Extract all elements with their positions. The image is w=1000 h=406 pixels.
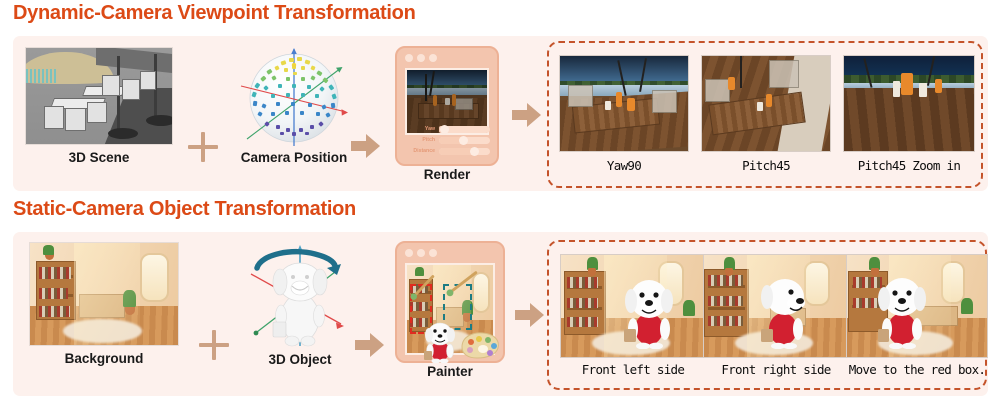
dot-minimize-icon[interactable] (417, 54, 425, 62)
slider-track-yaw[interactable] (439, 126, 490, 133)
output-group-static: Front left side (547, 240, 987, 390)
window-traffic-dots[interactable] (405, 54, 437, 62)
3d-scene-thumbnail (25, 47, 173, 145)
output-pitch45 (701, 55, 831, 152)
dot-close-icon[interactable] (405, 249, 413, 257)
render-window[interactable]: Yaw Pitch Distance (395, 46, 499, 166)
section-title-dynamic: Dynamic-Camera Viewpoint Transformation (13, 2, 415, 25)
output-yaw90 (559, 55, 689, 152)
caption-background: Background (29, 351, 179, 366)
figure-root: Dynamic-Camera Viewpoint Transformation (0, 0, 1000, 406)
caption-output-move-red-box: Move to the red box. (849, 362, 986, 377)
output-thumbnail (559, 55, 689, 152)
slider-track-distance[interactable] (439, 148, 490, 155)
caption-output-pitch45: Pitch45 (742, 158, 790, 173)
slider-label-pitch: Pitch (404, 136, 435, 144)
slider-track-pitch[interactable] (439, 137, 490, 144)
section-dynamic-camera: Dynamic-Camera Viewpoint Transformation (0, 0, 1000, 200)
caption-painter: Painter (391, 364, 509, 379)
output-thumbnail (703, 254, 848, 358)
operator-arrow-dynamic-output (510, 98, 544, 132)
operator-arrow-dynamic (349, 129, 383, 163)
painter-window[interactable] (395, 241, 505, 363)
window-traffic-dots[interactable] (405, 249, 437, 257)
output-move-to-red-box (846, 254, 988, 358)
3d-dog-object-axes (237, 242, 363, 350)
paintbrush-left-icon (410, 277, 432, 300)
caption-camera-position: Camera Position (231, 150, 357, 165)
input-3d-object: 3D Object (237, 242, 363, 372)
output-group-dynamic: Yaw90 Pitch45 (547, 41, 983, 188)
input-background: Background (29, 242, 179, 372)
output-thumbnail (560, 254, 705, 358)
caption-output-yaw90: Yaw90 (607, 158, 641, 173)
output-thumbnail (843, 55, 975, 152)
caption-output-front-left: Front left side (582, 362, 684, 377)
operator-arrow-static-output (513, 298, 547, 332)
caption-output-front-right: Front right side (721, 362, 830, 377)
slider-label-yaw: Yaw (404, 125, 435, 133)
operator-plus-static (199, 330, 229, 360)
dot-maximize-icon[interactable] (429, 54, 437, 62)
camera-position-sphere (231, 46, 357, 150)
dot-close-icon[interactable] (405, 54, 413, 62)
caption-render: Render (391, 167, 503, 182)
camera-position-svg (231, 46, 357, 150)
slider-label-distance: Distance (404, 147, 435, 155)
slider-distance[interactable]: Distance (404, 147, 490, 155)
render-sliders[interactable]: Yaw Pitch Distance (404, 125, 490, 158)
output-thumbnail (846, 254, 988, 358)
slider-pitch[interactable]: Pitch (404, 136, 490, 144)
output-front-left-side (560, 254, 705, 358)
caption-3d-scene: 3D Scene (25, 150, 173, 165)
input-3d-scene: 3D Scene (25, 47, 173, 171)
tool-painter: Painter (391, 235, 509, 391)
input-camera-position: Camera Position (231, 46, 357, 172)
slider-yaw[interactable]: Yaw (404, 125, 490, 133)
operator-plus-dynamic (188, 132, 218, 162)
panel-static: Background (13, 232, 988, 396)
dot-minimize-icon[interactable] (417, 249, 425, 257)
panel-dynamic: 3D Scene (13, 36, 988, 191)
output-pitch45-zoom-in (843, 55, 975, 152)
output-front-right-side (703, 254, 848, 358)
caption-3d-object: 3D Object (237, 352, 363, 367)
output-thumbnail (701, 55, 831, 152)
section-static-camera: Static-Camera Object Transformation (0, 196, 1000, 406)
paint-palette-icon (459, 331, 501, 361)
painter-dog-avatar (423, 321, 457, 363)
paintbrush-right-icon (447, 273, 476, 297)
section-title-static: Static-Camera Object Transformation (13, 198, 356, 221)
room-background-thumbnail (29, 242, 179, 346)
caption-output-pitch45-zoom: Pitch45 Zoom in (858, 158, 960, 173)
dot-maximize-icon[interactable] (429, 249, 437, 257)
tool-render: Yaw Pitch Distance (391, 40, 503, 188)
operator-arrow-static (353, 328, 387, 362)
